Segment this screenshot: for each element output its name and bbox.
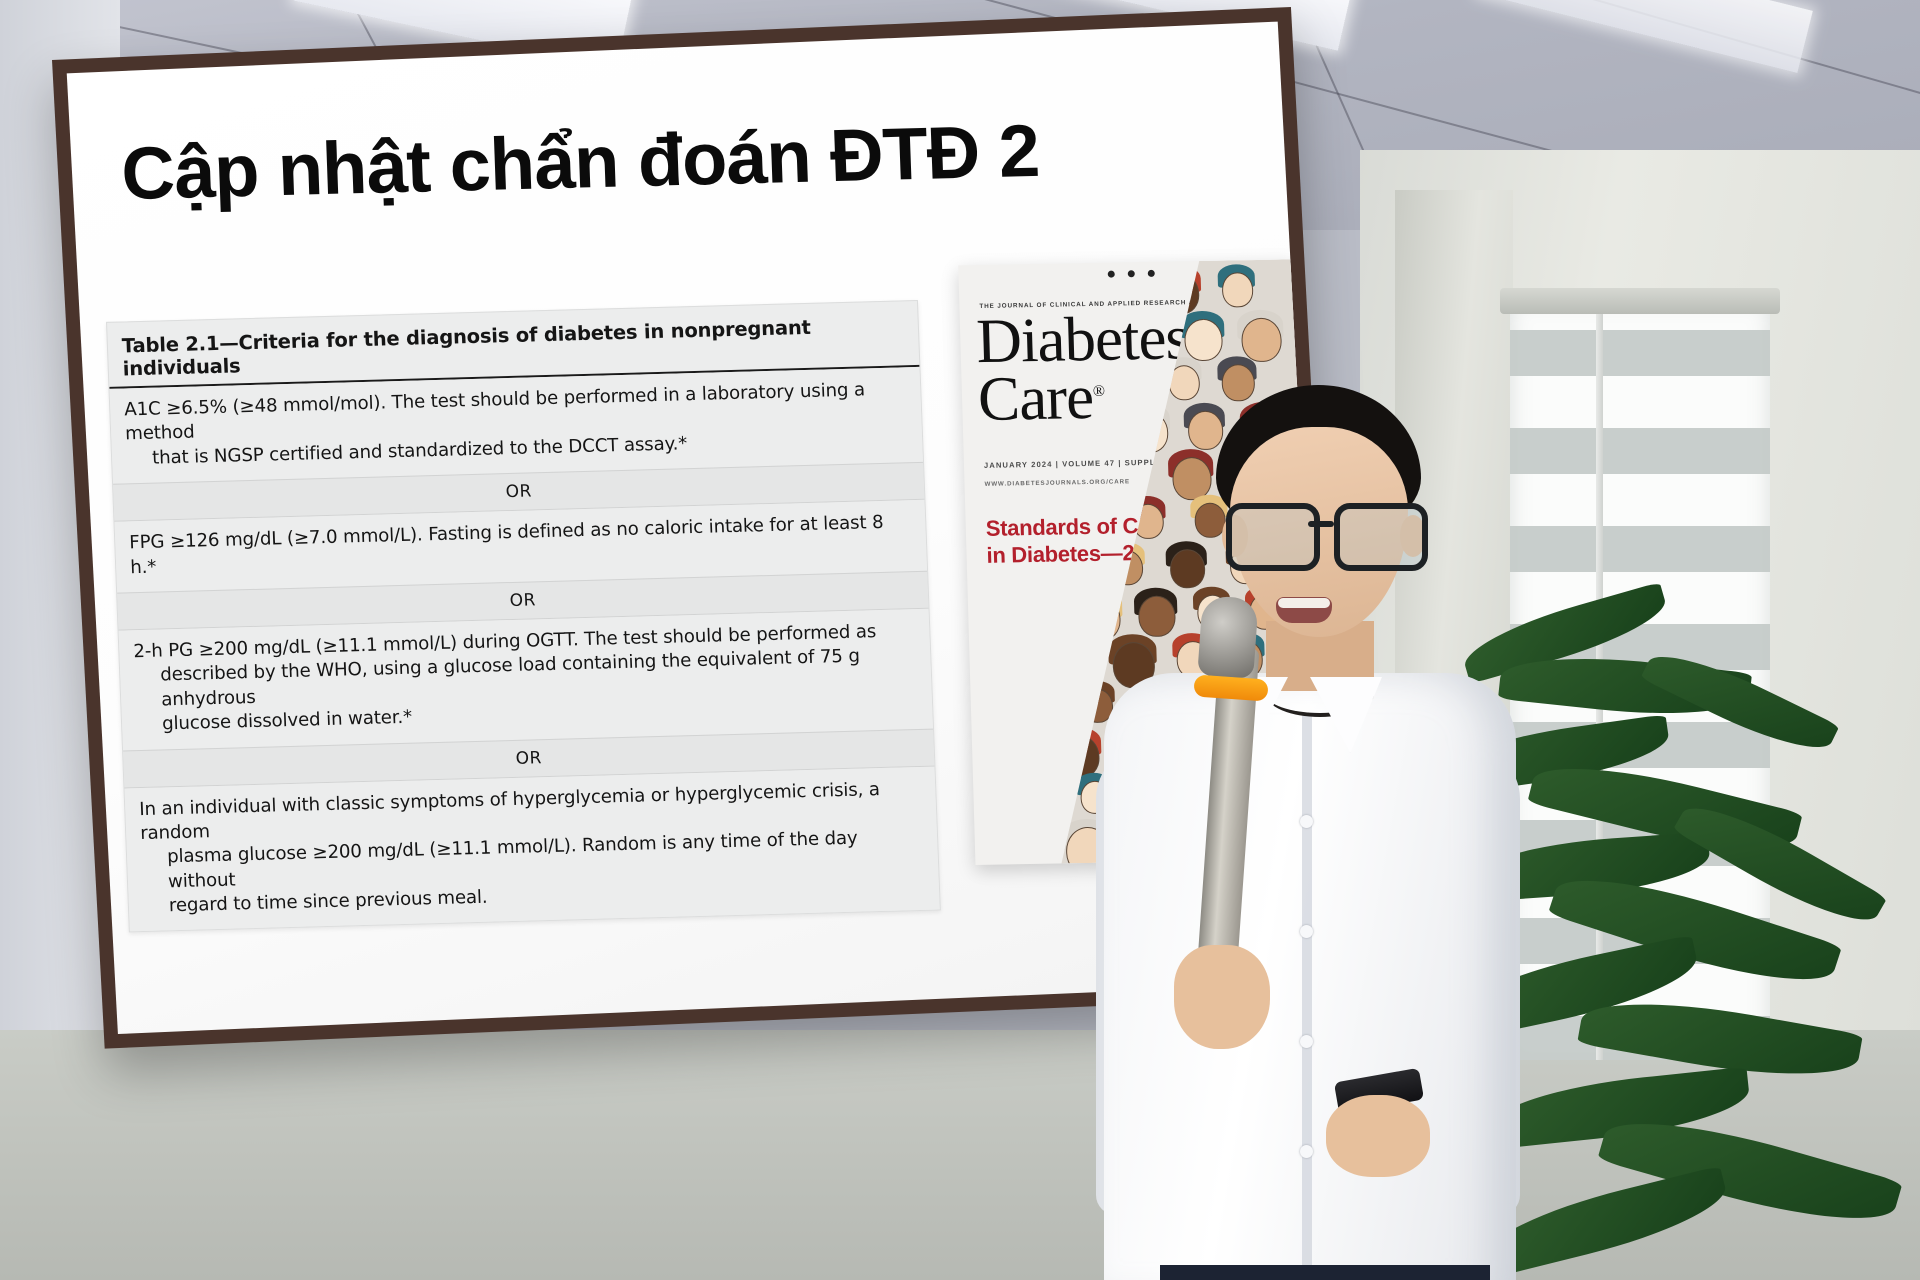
glasses-icon — [1226, 503, 1416, 559]
cover-title-line2: Care — [977, 362, 1094, 434]
shirt-button — [1300, 1145, 1313, 1158]
presenter-teeth — [1278, 598, 1330, 608]
shirt-button — [1300, 1035, 1313, 1048]
slide-title: Cập nhật chẩn đoán ĐTĐ 2 — [120, 107, 1245, 214]
microphone-head-icon — [1197, 595, 1258, 679]
table-row: In an individual with classic symptoms o… — [125, 766, 940, 932]
ceiling-light-panel — [1477, 0, 1813, 73]
table-row: 2-h PG ≥200 mg/dL (≥11.1 mmol/L) during … — [119, 609, 933, 750]
presenter-hand-holding-clicker — [1326, 1095, 1430, 1177]
presenter — [1090, 385, 1520, 1280]
conference-room-scene: Cập nhật chẩn đoán ĐTĐ 2 Table 2.1—Crite… — [0, 0, 1920, 1280]
shirt-button — [1300, 815, 1313, 828]
blind-headrail — [1500, 288, 1780, 314]
cover-dots-icon — [1108, 270, 1155, 278]
criteria-line: FPG ≥126 mg/dL (≥7.0 mmol/L). Fasting is… — [129, 512, 884, 578]
criteria-table: Table 2.1—Criteria for the diagnosis of … — [106, 300, 941, 933]
presenter-trousers — [1160, 1265, 1490, 1280]
presenter-hand-holding-mic — [1174, 945, 1270, 1049]
shirt-button — [1300, 925, 1313, 938]
shirt-placket — [1302, 715, 1312, 1275]
